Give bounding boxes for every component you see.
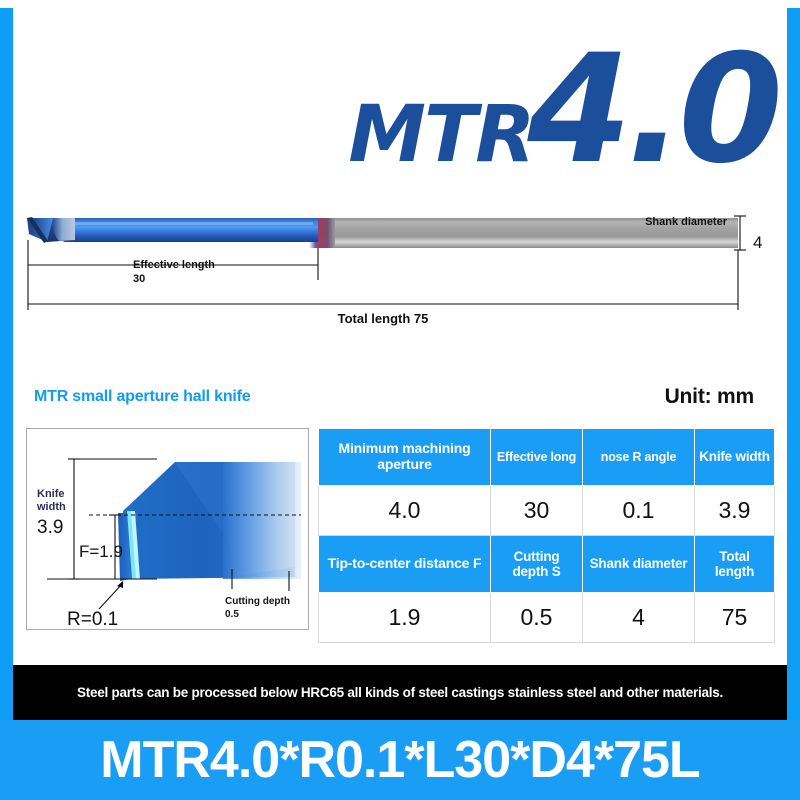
nose-radius-value: R=0.1 [67,609,118,629]
product-spec-page: MTR 4.0 [0,0,800,800]
section-title: MTR small aperture hall knife [34,388,250,406]
value-effective-long: 30 [491,486,583,536]
header-nose-r-angle: nose R angle [583,429,695,486]
detail-diagram-panel: Knife width 3.9 F=1.9 R=0.1 Cutting dept… [26,428,309,630]
hero-title: MTR 4.0 [300,18,778,173]
shank-diameter-value: 4 [753,233,762,252]
right-accent-strip [787,8,800,720]
knife-width-label-line1: Knife [37,488,65,500]
effective-length-value: 30 [133,273,145,285]
header-tip-to-center-distance: Tip-to-center distance F [319,536,491,593]
header-min-machining-aperture: Minimum machining aperture [319,429,491,486]
cutting-depth-value: 0.5 [225,609,239,620]
f-dimension-value: F=1.9 [79,542,123,561]
effective-length-label: Effective length [133,259,215,271]
table-row-values-2: 1.9 0.5 4 75 [319,593,775,643]
value-tip-to-center-distance: 1.9 [319,593,491,643]
value-total-length: 75 [695,593,775,643]
tool-drawing: Shank diameter 4 Effective length 30 Tot… [13,190,787,335]
cutting-depth-label: Cutting depth [225,596,290,607]
value-min-machining-aperture: 4.0 [319,486,491,536]
header-cutting-depth-s: Cutting depth S [491,536,583,593]
table-row-header-2: Tip-to-center distance F Cutting depth S… [319,536,775,593]
hero-model-text: MTR [348,103,533,173]
header-knife-width: Knife width [695,429,775,486]
part-number-bar: MTR4.0*R0.1*L30*D4*75L [0,720,800,800]
material-notice-banner: Steel parts can be processed below HRC65… [13,665,787,720]
value-cutting-depth-s: 0.5 [491,593,583,643]
material-notice-text: Steel parts can be processed below HRC65… [77,685,723,700]
specification-table: Minimum machining aperture Effective lon… [318,428,775,643]
shank-diameter-label: Shank diameter [645,216,728,228]
part-number-text: MTR4.0*R0.1*L30*D4*75L [100,730,699,790]
total-length-label: Total length 75 [338,311,429,326]
knife-width-label-line2: width [36,501,66,513]
table-row-values-1: 4.0 30 0.1 3.9 [319,486,775,536]
value-shank-diameter: 4 [583,593,695,643]
hero-size-text: 4.0 [527,47,778,173]
value-knife-width: 3.9 [695,486,775,536]
header-shank-diameter: Shank diameter [583,536,695,593]
table-row-header-1: Minimum machining aperture Effective lon… [319,429,775,486]
section-header: MTR small aperture hall knife Unit: mm [34,383,754,411]
knife-width-value: 3.9 [37,517,63,538]
header-total-length: Total length [695,536,775,593]
value-nose-r-angle: 0.1 [583,486,695,536]
left-accent-strip [0,8,13,720]
header-effective-long: Effective long [491,429,583,486]
unit-label: Unit: mm [665,385,754,409]
